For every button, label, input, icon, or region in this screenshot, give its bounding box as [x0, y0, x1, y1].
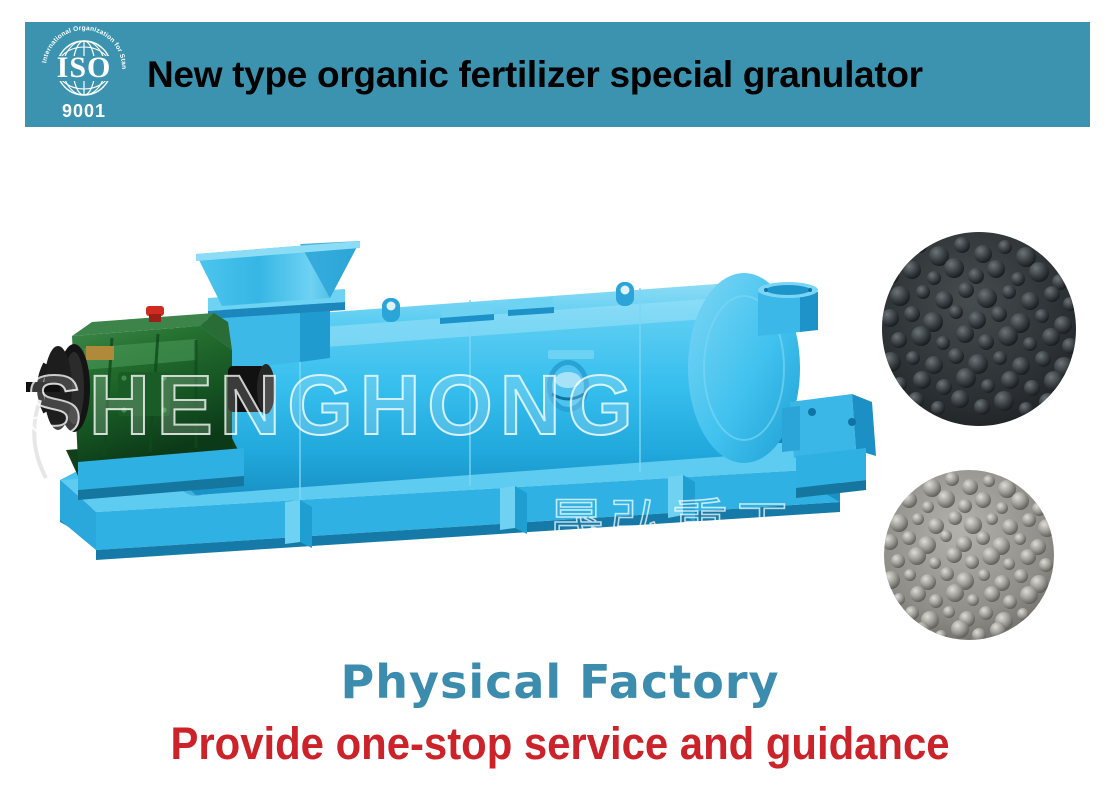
- gray-granule-sample-circle: [884, 470, 1054, 640]
- tagline-primary: Physical Factory: [0, 655, 1120, 709]
- iso-9001-certification-logo: International Organization for Standardi…: [25, 22, 143, 127]
- bearing-housing: [782, 394, 876, 498]
- vent-stack: [758, 282, 818, 336]
- dark-granule-sample-circle: [882, 232, 1076, 426]
- granulator-machine-image: [0, 150, 880, 640]
- header-bar: International Organization for Standardi…: [25, 22, 1090, 127]
- product-banner-page: International Organization for Standardi…: [0, 0, 1120, 799]
- iso-globe-icon: International Organization for Standardi…: [25, 22, 127, 121]
- page-title: New type organic fertilizer special gran…: [147, 56, 923, 93]
- iso-acronym-text: ISO: [57, 51, 112, 84]
- tagline-secondary: Provide one-stop service and guidance: [39, 718, 1081, 770]
- iso-standard-number-text: 9001: [62, 101, 106, 121]
